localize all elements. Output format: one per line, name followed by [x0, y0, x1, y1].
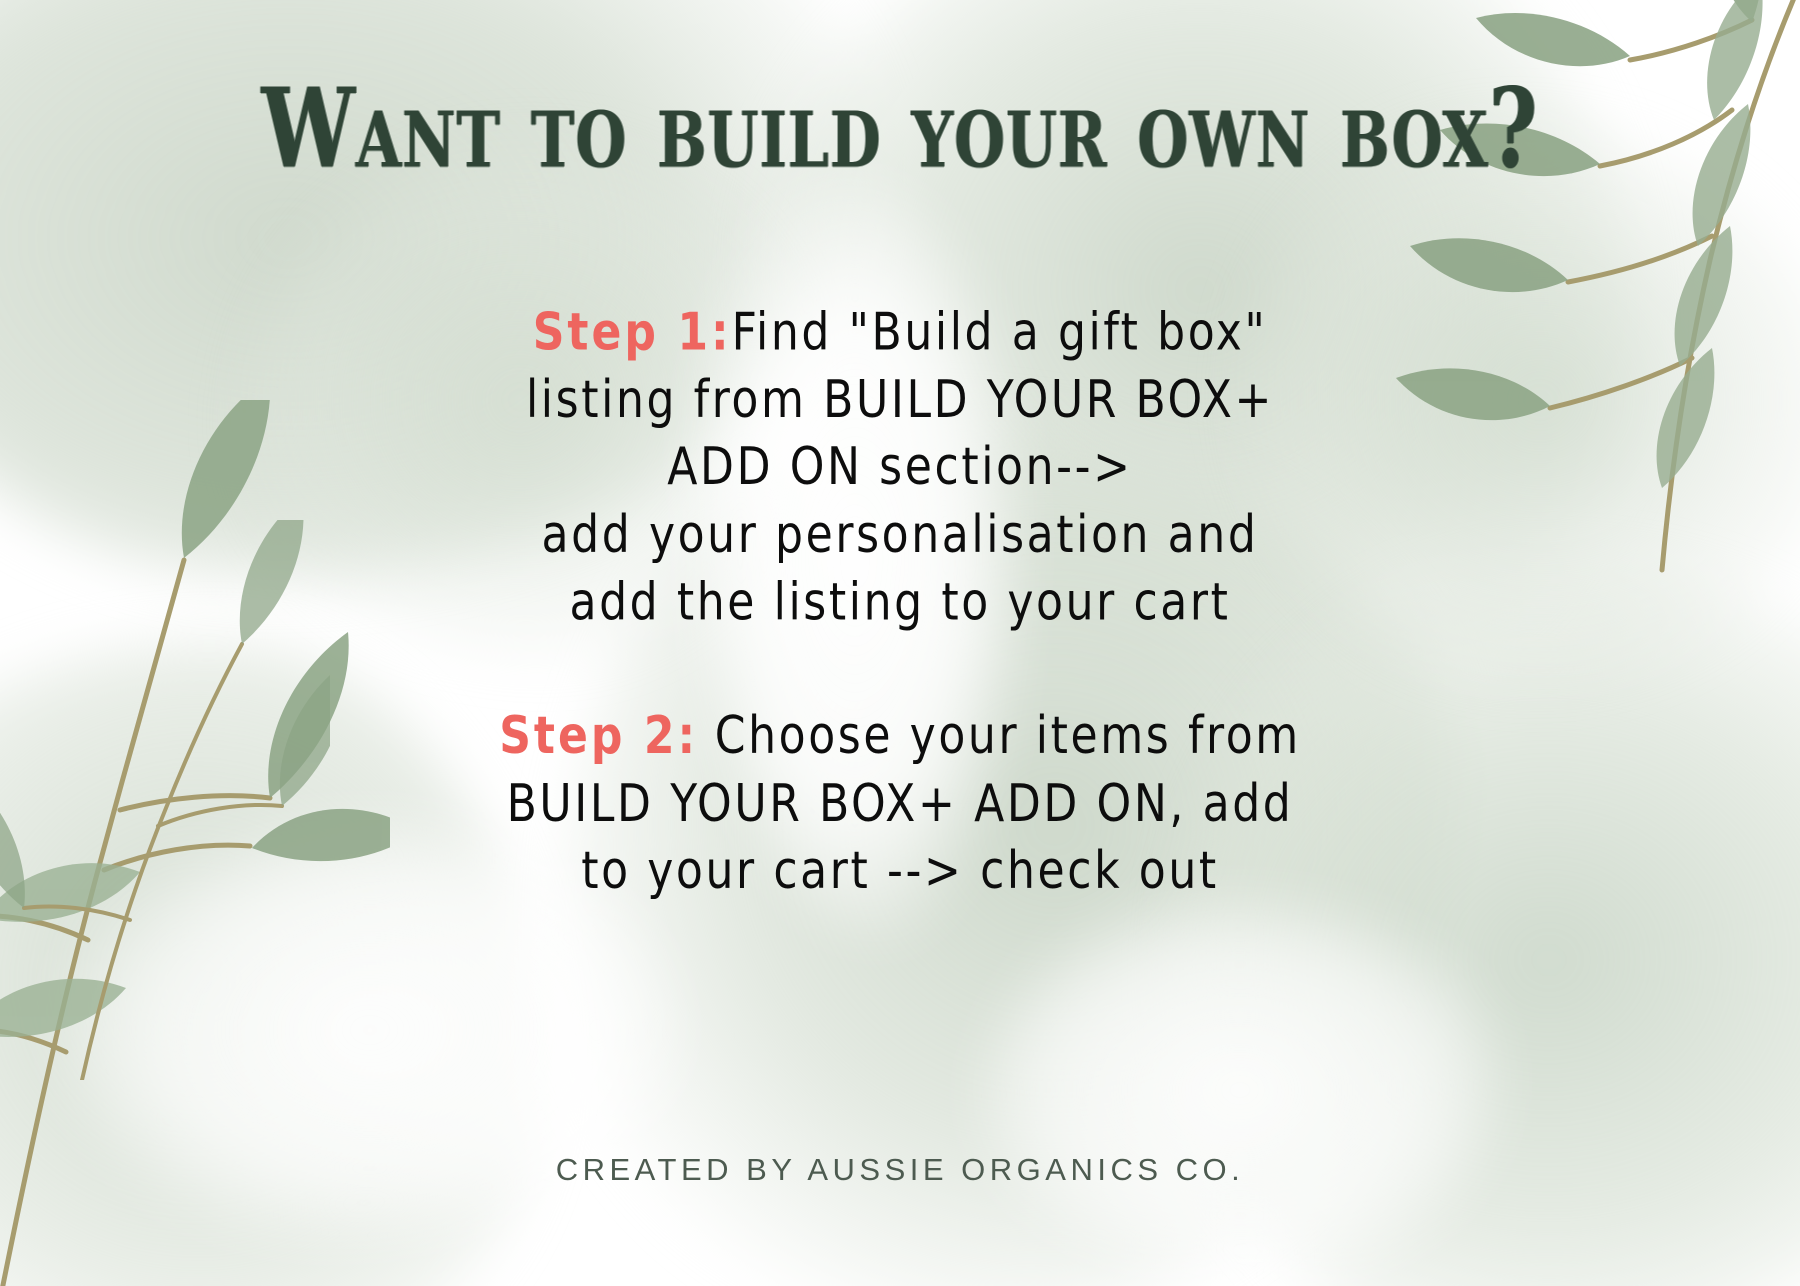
poster-content: Want to build your own box? Step 1:Find … [0, 0, 1800, 1286]
step-1-line-1: Step 1:Find "Build a gift box" [395, 298, 1405, 366]
step-2-line-1: Step 2: Choose your items from [395, 703, 1405, 771]
step-2-line-1-text: Choose your items from [698, 706, 1301, 766]
step-1-line-1-text: Find "Build a gift box" [732, 302, 1268, 362]
step-1-line-4: add your personalisation and [395, 501, 1405, 569]
step-2-line-2: BUILD YOUR BOX+ ADD ON, add [395, 770, 1405, 838]
step-1-label: Step 1: [533, 302, 732, 362]
step-1-block: Step 1:Find "Build a gift box" listing f… [395, 298, 1405, 636]
step-2-line-3: to your cart --> check out [395, 838, 1405, 906]
footer-credit: CREATED BY AUSSIE ORGANICS CO. [0, 1152, 1800, 1188]
step-1-line-3: ADD ON section--> [395, 433, 1405, 501]
step-2-label: Step 2: [499, 706, 698, 766]
poster-canvas: Want to build your own box? Step 1:Find … [0, 0, 1800, 1286]
step-1-line-5: add the listing to your cart [395, 568, 1405, 636]
page-title: Want to build your own box? [261, 74, 1538, 183]
step-1-line-2: listing from BUILD YOUR BOX+ [395, 366, 1405, 434]
step-2-block: Step 2: Choose your items from BUILD YOU… [395, 703, 1405, 906]
